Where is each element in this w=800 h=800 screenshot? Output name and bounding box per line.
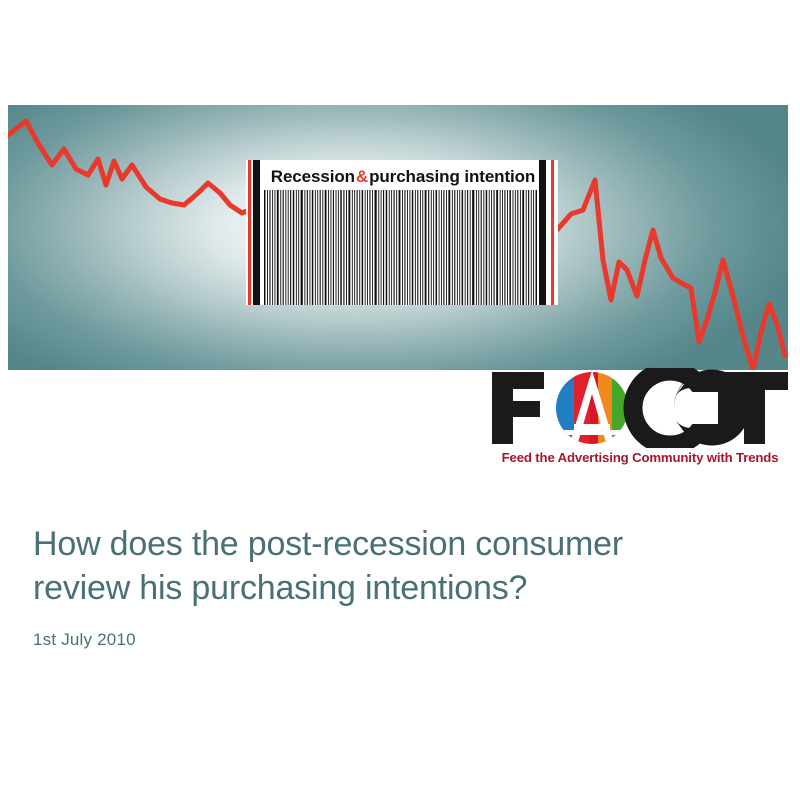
page-title: How does the post-recession consumer rev…	[33, 522, 763, 610]
barcode-graphic: Recession & purchasing intention	[246, 160, 558, 305]
barcode-label: Recession & purchasing intention	[262, 164, 544, 190]
presentation-date: 1st July 2010	[33, 630, 763, 650]
barcode-label-ampersand: &	[355, 167, 369, 187]
barcode-guard-right	[551, 160, 554, 305]
barcode-guard-left	[248, 160, 251, 305]
fact-letter-a-icon	[556, 370, 632, 446]
page-title-line-1: How does the post-recession consumer	[33, 522, 763, 566]
barcode-label-part1: Recession	[271, 167, 355, 187]
fact-letter-f-icon	[492, 372, 544, 444]
trendline-left	[8, 121, 266, 217]
page-title-line-2: review his purchasing intentions?	[33, 566, 763, 610]
fact-logo: Feed the Advertising Community with Tren…	[488, 368, 792, 476]
title-slide: Recession & purchasing intention	[0, 0, 800, 800]
fact-tagline: Feed the Advertising Community with Tren…	[488, 450, 792, 465]
barcode-label-part2: purchasing intention	[369, 167, 535, 187]
trendline-right	[557, 180, 785, 370]
title-block: How does the post-recession consumer rev…	[33, 522, 763, 650]
fact-wordmark	[488, 368, 792, 448]
